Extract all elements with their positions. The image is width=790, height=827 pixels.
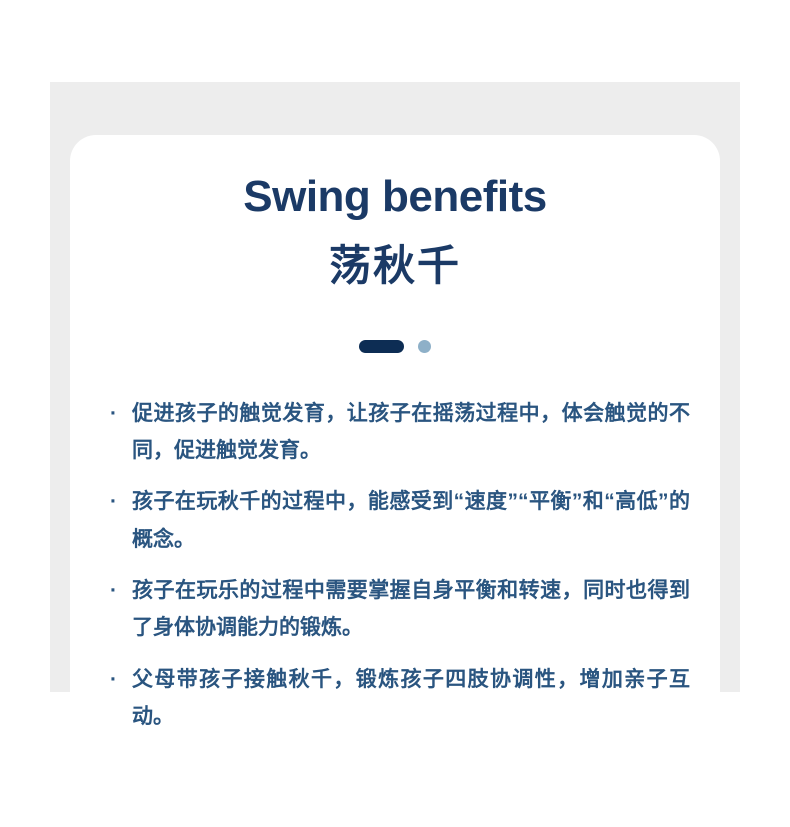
card-content: Swing benefits 荡秋千 · 促进孩子的触觉发育，让孩子在摇荡过程中…: [70, 135, 720, 736]
bullet-dot-icon: ·: [110, 483, 117, 520]
list-item-text: 促进孩子的触觉发育，让孩子在摇荡过程中，体会触觉的不同，促进触觉发育。: [132, 402, 690, 462]
page-title-english: Swing benefits: [98, 163, 692, 221]
page-title-chinese: 荡秋千: [98, 221, 692, 289]
pagination-indicator[interactable]: [98, 340, 692, 353]
list-item-text: 孩子在玩秋千的过程中，能感受到“速度”“平衡”和“高低”的概念。: [132, 490, 690, 550]
list-item: · 父母带孩子接触秋千，锻炼孩子四肢协调性，增加亲子互动。: [100, 661, 690, 736]
benefits-list: · 促进孩子的触觉发育，让孩子在摇荡过程中，体会触觉的不同，促进触觉发育。 · …: [98, 353, 692, 736]
list-item-text: 父母带孩子接触秋千，锻炼孩子四肢协调性，增加亲子互动。: [132, 668, 690, 728]
list-item: · 孩子在玩乐的过程中需要掌握自身平衡和转速，同时也得到了身体协调能力的锻炼。: [100, 572, 690, 647]
swing-benefits-card: Swing benefits 荡秋千 · 促进孩子的触觉发育，让孩子在摇荡过程中…: [70, 135, 720, 775]
list-item: · 孩子在玩秋千的过程中，能感受到“速度”“平衡”和“高低”的概念。: [100, 483, 690, 558]
pagination-dot-inactive[interactable]: [418, 340, 431, 353]
pagination-dot-active[interactable]: [359, 340, 404, 353]
list-item: · 促进孩子的触觉发育，让孩子在摇荡过程中，体会触觉的不同，促进触觉发育。: [100, 395, 690, 470]
list-item-text: 孩子在玩乐的过程中需要掌握自身平衡和转速，同时也得到了身体协调能力的锻炼。: [132, 579, 690, 639]
bullet-dot-icon: ·: [110, 572, 117, 609]
bullet-dot-icon: ·: [110, 661, 117, 698]
bullet-dot-icon: ·: [110, 395, 117, 432]
